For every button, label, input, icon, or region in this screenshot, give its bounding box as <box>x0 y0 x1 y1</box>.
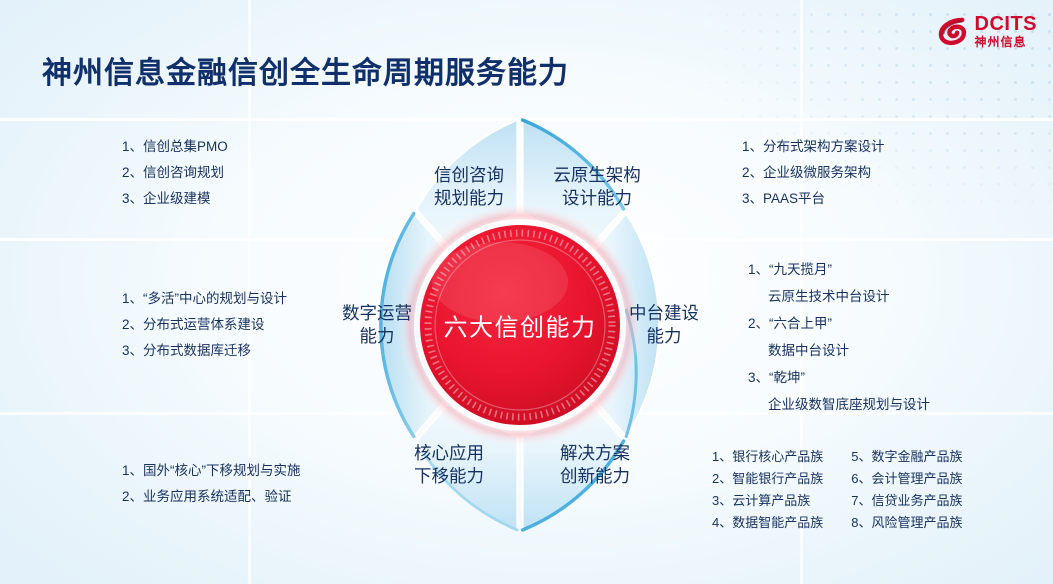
text-block-top-right: 1、分布式架构方案设计 2、企业级微服务架构 3、PAAS平台 <box>742 134 885 212</box>
list-item: 3、企业级建模 <box>122 186 228 212</box>
core-label: 六大信创能力 <box>444 308 597 343</box>
segment-label-line1: 数字运营 <box>342 302 412 325</box>
list-item: 2、信创咨询规划 <box>122 160 228 186</box>
list-item: 3、PAAS平台 <box>742 186 885 212</box>
logo-brand-cn: 神州信息 <box>975 36 1038 48</box>
list-item: 1、信创总集PMO <box>122 134 228 160</box>
segment-label-line2: 能力 <box>629 325 699 348</box>
list-item: 1、分布式架构方案设计 <box>742 134 885 160</box>
text-block-bottom-left: 1、国外“核心”下移规划与实施 2、业务应用系统适配、验证 <box>122 458 301 510</box>
segment-label-line1: 信创咨询 <box>434 164 504 187</box>
segment-label-solution: 解决方案 创新能力 <box>560 442 630 488</box>
slide-canvas: DCITS 神州信息 神州信息金融信创全生命周期服务能力 1、信创总集PMO 2… <box>0 0 1053 584</box>
list-item: 8、风险管理产品族 <box>851 512 962 534</box>
segment-label-digital-ops: 数字运营 能力 <box>342 302 412 348</box>
page-title: 神州信息金融信创全生命周期服务能力 <box>42 48 569 92</box>
segment-label-line1: 中台建设 <box>629 302 699 325</box>
list-item: 5、数字金融产品族 <box>851 446 962 468</box>
list-item: 3、“乾坤” <box>748 364 930 391</box>
list-item-sub: 云原生技术中台设计 <box>748 283 930 310</box>
segment-label-midplatform: 中台建设 能力 <box>629 302 699 348</box>
list-item-sub: 企业级数智底座规划与设计 <box>748 391 930 418</box>
list-item: 6、会计管理产品族 <box>851 468 962 490</box>
list-item: 1、“多活”中心的规划与设计 <box>122 286 287 312</box>
list-item: 3、分布式数据库迁移 <box>122 338 287 364</box>
segment-label-line1: 云原生架构 <box>553 164 641 187</box>
list-item: 2、分布式运营体系建设 <box>122 312 287 338</box>
text-block-top-left: 1、信创总集PMO 2、信创咨询规划 3、企业级建模 <box>122 134 228 212</box>
segment-label-line2: 规划能力 <box>434 187 504 210</box>
list-item: 2、“六合上甲” <box>748 310 930 337</box>
product-column-2: 5、数字金融产品族 6、会计管理产品族 7、信贷业务产品族 8、风险管理产品族 <box>851 446 962 534</box>
segment-label-consulting: 信创咨询 规划能力 <box>434 164 504 210</box>
segment-label-line1: 核心应用 <box>414 442 484 465</box>
segment-label-line2: 创新能力 <box>560 465 630 488</box>
segment-label-line2: 设计能力 <box>553 187 641 210</box>
text-block-bottom-right: 1、银行核心产品族 2、智能银行产品族 3、云计算产品族 4、数据智能产品族 5… <box>712 446 962 534</box>
segment-label-line1: 解决方案 <box>560 442 630 465</box>
list-item: 7、信贷业务产品族 <box>851 490 962 512</box>
text-block-mid-right: 1、“九天揽月” 云原生技术中台设计 2、“六合上甲” 数据中台设计 3、“乾坤… <box>748 256 930 418</box>
capability-wheel: 六大信创能力 信创咨询 规划能力 云原生架构 设计能力 中台建设 能力 解决方案… <box>305 110 735 540</box>
company-logo: DCITS 神州信息 <box>935 14 1038 48</box>
list-item: 2、业务应用系统适配、验证 <box>122 484 301 510</box>
swirl-icon <box>935 14 969 48</box>
list-item: 1、“九天揽月” <box>748 256 930 283</box>
list-item: 2、企业级微服务架构 <box>742 160 885 186</box>
segment-label-cloud-native: 云原生架构 设计能力 <box>553 164 641 210</box>
list-item-sub: 数据中台设计 <box>748 337 930 364</box>
logo-brand-en: DCITS <box>975 14 1038 34</box>
text-block-mid-left: 1、“多活”中心的规划与设计 2、分布式运营体系建设 3、分布式数据库迁移 <box>122 286 287 364</box>
segment-label-line2: 能力 <box>342 325 412 348</box>
segment-label-core-app: 核心应用 下移能力 <box>414 442 484 488</box>
list-item: 1、国外“核心”下移规划与实施 <box>122 458 301 484</box>
logo-wordmark: DCITS 神州信息 <box>975 14 1038 48</box>
segment-label-line2: 下移能力 <box>414 465 484 488</box>
